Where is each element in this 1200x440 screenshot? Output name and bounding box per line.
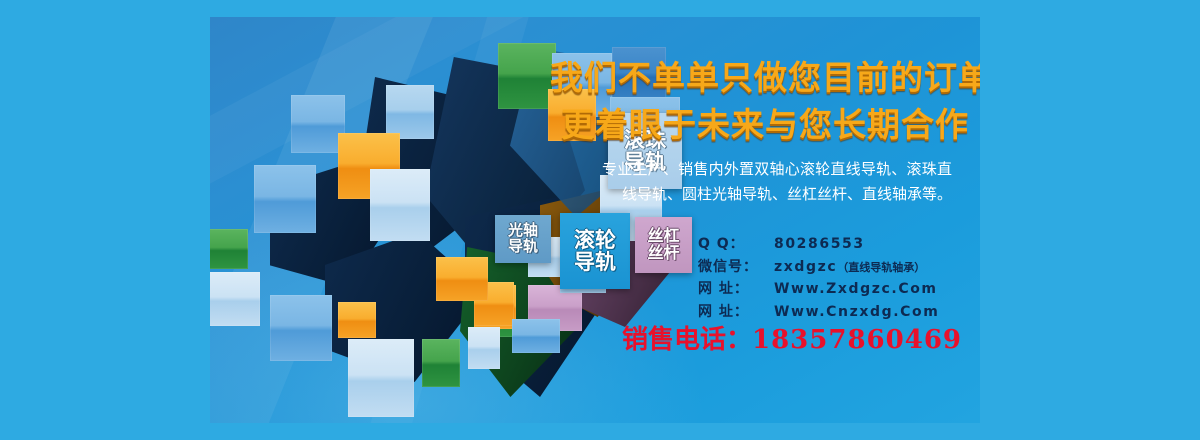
promo-banner: 滚珠 导轨 光轴 导轨 滚轮 导轨 丝杠 丝杆 我们不单单只做您目前的订单 更着… <box>210 17 980 423</box>
cube-face <box>436 257 488 301</box>
cube-face <box>348 339 414 417</box>
sales-phone-number: 18357860469 <box>752 325 962 355</box>
contact-row-website-1[interactable]: 网 址： Www.Zxdgzc.Com <box>698 278 980 301</box>
contact-value[interactable]: Www.Zxdgzc.Com <box>774 278 938 301</box>
contact-key: Q Q： <box>698 233 774 256</box>
product-label-line2: 导轨 <box>508 239 538 255</box>
cube-face <box>370 169 430 241</box>
contact-value: 80286553 <box>774 233 865 256</box>
cube-face <box>270 295 332 361</box>
company-description: 专业生产、销售内外置双轴心滚轮直线导轨、滚珠直线导轨、圆柱光轴导轨、丝杠丝杆、直… <box>602 157 952 207</box>
contact-key: 微信号： <box>698 256 774 279</box>
contact-info-block: Q Q： 80286553 微信号： zxdgzc （直线导轨轴承） 网 址： … <box>698 233 980 324</box>
sales-phone: 销售电话：18357860469 <box>602 319 980 356</box>
contact-row-wechat: 微信号： zxdgzc （直线导轨轴承） <box>698 256 980 279</box>
banner-stage: 滚珠 导轨 光轴 导轨 滚轮 导轨 丝杠 丝杆 我们不单单只做您目前的订单 更着… <box>0 0 1200 440</box>
cube-face <box>338 302 376 338</box>
headline-line2: 更着眼于未来与您长期合作 <box>550 98 980 146</box>
cube-face <box>210 229 248 269</box>
banner-text-column: 我们不单单只做您目前的订单 更着眼于未来与您长期合作 专业生产、销售内外置双轴心… <box>550 17 980 423</box>
cube-face <box>254 165 316 233</box>
cube-face <box>291 95 345 153</box>
cube-face <box>468 327 500 369</box>
sales-phone-label: 销售电话： <box>622 325 752 355</box>
contact-row-qq: Q Q： 80286553 <box>698 233 980 256</box>
contact-note: （直线导轨轴承） <box>837 259 925 277</box>
contact-key: 网 址： <box>698 278 774 301</box>
cube-face <box>386 85 434 139</box>
contact-value: zxdgzc <box>774 256 837 279</box>
product-label-shaft-guide: 光轴 导轨 <box>495 215 551 263</box>
cube-face <box>210 272 260 326</box>
cube-face <box>422 339 460 387</box>
headline-line1: 我们不单单只做您目前的订单 <box>550 51 980 99</box>
